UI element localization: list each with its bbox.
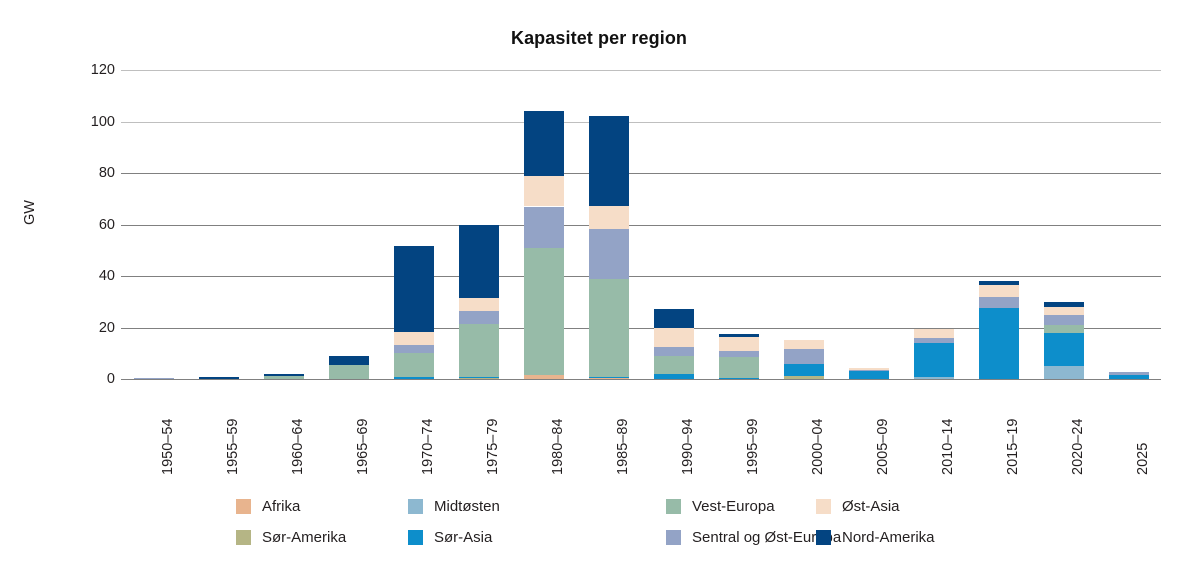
bar-series-group <box>121 70 1161 379</box>
bar-segment[interactable] <box>914 343 954 377</box>
bar-group[interactable] <box>134 70 174 379</box>
legend-label: Midtøsten <box>434 498 500 515</box>
bar-group[interactable] <box>1044 70 1084 379</box>
bar-segment[interactable] <box>654 347 694 356</box>
legend-swatch-icon <box>408 499 423 514</box>
legend-swatch-icon <box>666 530 681 545</box>
x-tick-label: 1995–99 <box>745 419 761 475</box>
bar-segment[interactable] <box>394 246 434 332</box>
bar-group[interactable] <box>264 70 304 379</box>
legend-label: Øst-Asia <box>842 498 900 515</box>
bar-segment[interactable] <box>524 248 564 375</box>
bar-segment[interactable] <box>654 309 694 327</box>
bar-group[interactable] <box>849 70 889 379</box>
chart-title: Kapasitet per region <box>0 28 1198 49</box>
bar-segment[interactable] <box>589 116 629 205</box>
bar-group[interactable] <box>394 70 434 379</box>
bar-segment[interactable] <box>1044 315 1084 325</box>
legend-swatch-icon <box>408 530 423 545</box>
x-tick-label: 2020–24 <box>1070 419 1086 475</box>
bar-group[interactable] <box>459 70 499 379</box>
x-tick-label: 1965–69 <box>355 419 371 475</box>
bar-segment[interactable] <box>524 111 564 175</box>
y-tick-20: 20 <box>15 320 115 336</box>
bar-segment[interactable] <box>329 356 369 365</box>
x-tick-label: 1985–89 <box>615 419 631 475</box>
x-tick-label: 2015–19 <box>1005 419 1021 475</box>
bar-segment[interactable] <box>1044 366 1084 379</box>
legend-label: Sør-Amerika <box>262 529 346 546</box>
chart-container: Kapasitet per region GW 020406080100120 … <box>0 0 1198 568</box>
x-tick-label: 2010–14 <box>940 419 956 475</box>
bar-segment[interactable] <box>719 334 759 337</box>
legend-swatch-icon <box>666 499 681 514</box>
bar-segment[interactable] <box>589 377 629 379</box>
bar-segment[interactable] <box>394 332 434 345</box>
bar-segment[interactable] <box>719 351 759 357</box>
legend-item[interactable]: Sør-Asia <box>408 526 492 548</box>
bar-segment[interactable] <box>849 370 889 372</box>
bar-segment[interactable] <box>979 297 1019 309</box>
x-tick-label: 1980–84 <box>550 419 566 475</box>
bar-group[interactable] <box>1109 70 1149 379</box>
bar-segment[interactable] <box>979 308 1019 379</box>
legend-item[interactable]: Afrika <box>236 495 300 517</box>
legend-swatch-icon <box>236 530 251 545</box>
bar-group[interactable] <box>589 70 629 379</box>
x-tick-label: 1970–74 <box>420 419 436 475</box>
x-tick-label: 1955–59 <box>225 419 241 475</box>
bar-segment[interactable] <box>264 374 304 376</box>
y-tick-80: 80 <box>15 165 115 181</box>
legend-item[interactable]: Nord-Amerika <box>816 526 935 548</box>
bar-segment[interactable] <box>914 329 954 338</box>
bar-segment[interactable] <box>524 176 564 207</box>
x-tick-label: 1960–64 <box>290 419 306 475</box>
bar-segment[interactable] <box>849 371 889 379</box>
bar-segment[interactable] <box>1044 333 1084 366</box>
bar-segment[interactable] <box>849 368 889 370</box>
bar-segment[interactable] <box>459 311 499 324</box>
bar-group[interactable] <box>524 70 564 379</box>
bar-segment[interactable] <box>1044 307 1084 315</box>
y-tick-0: 0 <box>15 371 115 387</box>
legend-swatch-icon <box>816 499 831 514</box>
bar-segment[interactable] <box>979 285 1019 297</box>
x-tick-label: 1975–79 <box>485 419 501 475</box>
legend-label: Sør-Asia <box>434 529 492 546</box>
y-tick-120: 120 <box>15 62 115 78</box>
legend-item[interactable]: Øst-Asia <box>816 495 900 517</box>
bar-segment[interactable] <box>329 365 369 379</box>
legend-label: Nord-Amerika <box>842 529 935 546</box>
bar-segment[interactable] <box>784 349 824 363</box>
bar-segment[interactable] <box>784 364 824 377</box>
bar-segment[interactable] <box>979 281 1019 285</box>
bar-segment[interactable] <box>654 328 694 347</box>
bar-group[interactable] <box>329 70 369 379</box>
bar-segment[interactable] <box>589 279 629 377</box>
bar-segment[interactable] <box>394 353 434 377</box>
legend-item[interactable]: Sør-Amerika <box>236 526 346 548</box>
bar-segment[interactable] <box>524 207 564 248</box>
bar-segment[interactable] <box>1109 372 1149 375</box>
bar-group[interactable] <box>199 70 239 379</box>
bar-group[interactable] <box>914 70 954 379</box>
y-tick-40: 40 <box>15 268 115 284</box>
bar-group[interactable] <box>719 70 759 379</box>
bar-segment[interactable] <box>1044 325 1084 333</box>
y-tick-100: 100 <box>15 114 115 130</box>
legend-label: Afrika <box>262 498 300 515</box>
bar-segment[interactable] <box>914 338 954 343</box>
x-tick-label: 2000–04 <box>810 419 826 475</box>
bar-group[interactable] <box>979 70 1019 379</box>
legend-item[interactable]: Sentral og Øst-Europa <box>666 526 841 548</box>
x-tick-label: 1990–94 <box>680 419 696 475</box>
bar-segment[interactable] <box>654 356 694 374</box>
legend-item[interactable]: Vest-Europa <box>666 495 775 517</box>
bar-segment[interactable] <box>719 357 759 378</box>
bar-segment[interactable] <box>1044 302 1084 307</box>
bar-segment[interactable] <box>459 324 499 377</box>
bar-segment[interactable] <box>784 340 824 349</box>
chart-legend: AfrikaSør-AmerikaMidtøstenSør-AsiaVest-E… <box>236 495 976 555</box>
bar-segment[interactable] <box>589 206 629 229</box>
x-axis-tick-labels: 1950–541955–591960–641965–691970–741975–… <box>121 379 1161 499</box>
bar-segment[interactable] <box>459 298 499 311</box>
bar-group[interactable] <box>654 70 694 379</box>
bar-segment[interactable] <box>719 337 759 351</box>
x-tick-label: 2005–09 <box>875 419 891 475</box>
bar-segment[interactable] <box>459 225 499 298</box>
bar-segment[interactable] <box>589 229 629 279</box>
legend-label: Vest-Europa <box>692 498 775 515</box>
y-axis-title: GW <box>22 200 38 225</box>
legend-item[interactable]: Midtøsten <box>408 495 500 517</box>
x-tick-label: 1950–54 <box>160 419 176 475</box>
legend-swatch-icon <box>816 530 831 545</box>
plot-area <box>121 70 1161 379</box>
bar-segment[interactable] <box>394 345 434 353</box>
legend-swatch-icon <box>236 499 251 514</box>
bar-group[interactable] <box>784 70 824 379</box>
x-tick-label: 2025 <box>1135 443 1151 475</box>
